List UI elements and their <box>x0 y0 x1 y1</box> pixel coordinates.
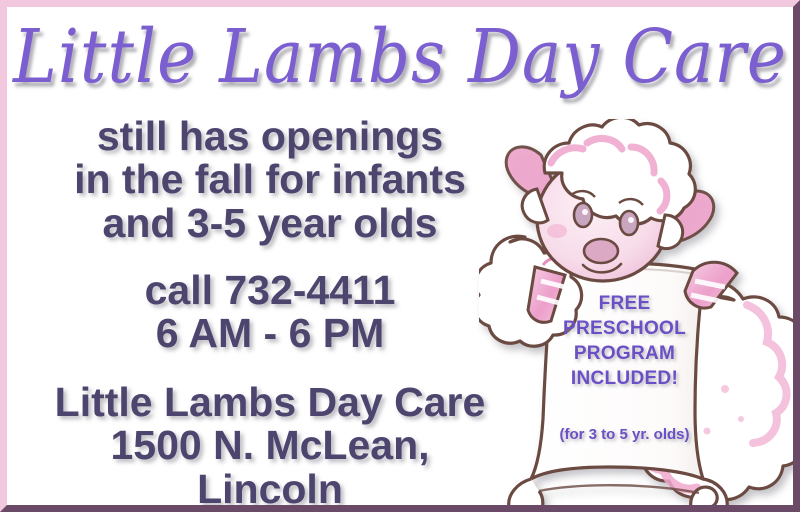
openings-text: still has openings in the fall for infan… <box>15 115 525 245</box>
scroll-line-1: FREE <box>547 291 702 316</box>
scroll-line-4: INCLUDED! <box>547 366 702 391</box>
openings-line-1: still has openings <box>15 115 525 158</box>
address-name-line: Little Lambs Day Care <box>15 381 525 424</box>
flyer-canvas: Little Lambs Day Care <box>7 7 793 505</box>
scroll-age-note: (for 3 to 5 yr. olds) <box>547 425 702 445</box>
openings-line-3: and 3-5 year olds <box>15 202 525 245</box>
contact-text: call 732-4411 6 AM - 6 PM <box>15 269 525 356</box>
page-title: Little Lambs Day Care <box>7 17 793 98</box>
scroll-line-3: PROGRAM <box>547 341 702 366</box>
advertisement-flyer: Little Lambs Day Care <box>0 0 800 512</box>
address-street-line: 1500 N. McLean, <box>15 424 525 467</box>
address-text: Little Lambs Day Care 1500 N. McLean, Li… <box>15 381 525 511</box>
openings-line-2: in the fall for infants <box>15 158 525 201</box>
address-city-line: Lincoln <box>15 468 525 511</box>
scroll-line-2: PRESCHOOL <box>547 316 702 341</box>
hours-line: 6 AM - 6 PM <box>15 312 525 355</box>
phone-line: call 732-4411 <box>15 269 525 312</box>
scroll-headline: FREE PRESCHOOL PROGRAM INCLUDED! <box>547 291 702 391</box>
